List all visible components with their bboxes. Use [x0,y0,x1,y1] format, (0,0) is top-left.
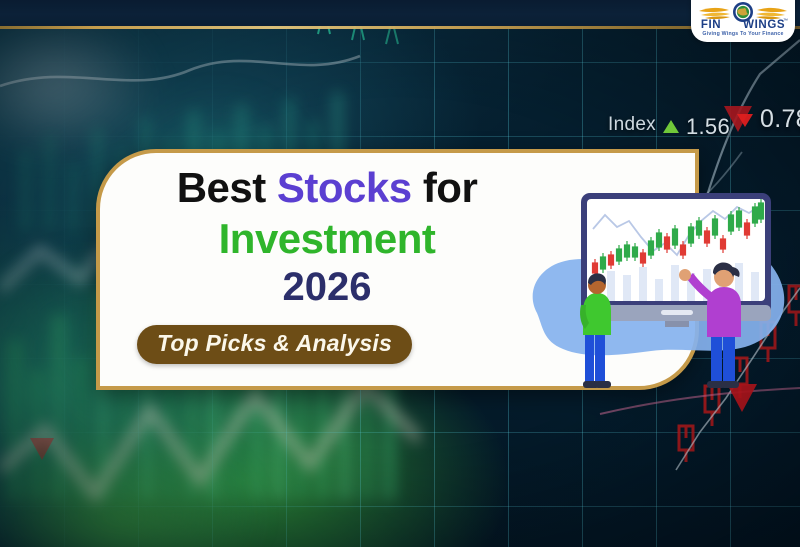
logo-tagline: Giving Wings To Your Finance [691,31,795,37]
triangle-down-icon [737,114,753,127]
ticker-down-value: 0.78 [760,105,800,134]
headline-word-for: for [423,164,478,211]
index-ticker: Index 1.56 0.78 [608,108,800,137]
triangle-up-icon [663,120,679,133]
banner-root: Index 1.56 0.78 www.finowings.com [0,0,800,547]
headline-line-1: Best Stocks for [122,167,532,209]
headline-word-stocks: Stocks [277,164,412,211]
subtitle-badge: Top Picks & Analysis [137,325,412,364]
logo-word-fin: FIN [701,19,721,31]
brand-logo[interactable]: FINWINGS ™ Giving Wings To Your Finance [691,0,795,42]
headline-card: Best Stocks for Investment 2026 Top Pick… [96,149,699,390]
headline-block: Best Stocks for Investment 2026 [122,167,532,307]
ticker-up-value: 1.56 [686,114,730,140]
top-bar-gold-rule [0,26,800,29]
ticker-label: Index [608,114,656,136]
logo-word-wings: WINGS [743,19,785,31]
analysts-illustration [515,163,800,391]
headline-word-best: Best [177,164,266,211]
top-bar [0,0,800,26]
headline-line-3-year: 2026 [122,267,532,307]
monitor-stand [665,321,689,327]
logo-trademark: ™ [783,18,788,24]
monitor-indicator [661,310,693,315]
logo-wordmark: FINWINGS [691,19,795,31]
headline-line-2: Investment [122,218,532,260]
